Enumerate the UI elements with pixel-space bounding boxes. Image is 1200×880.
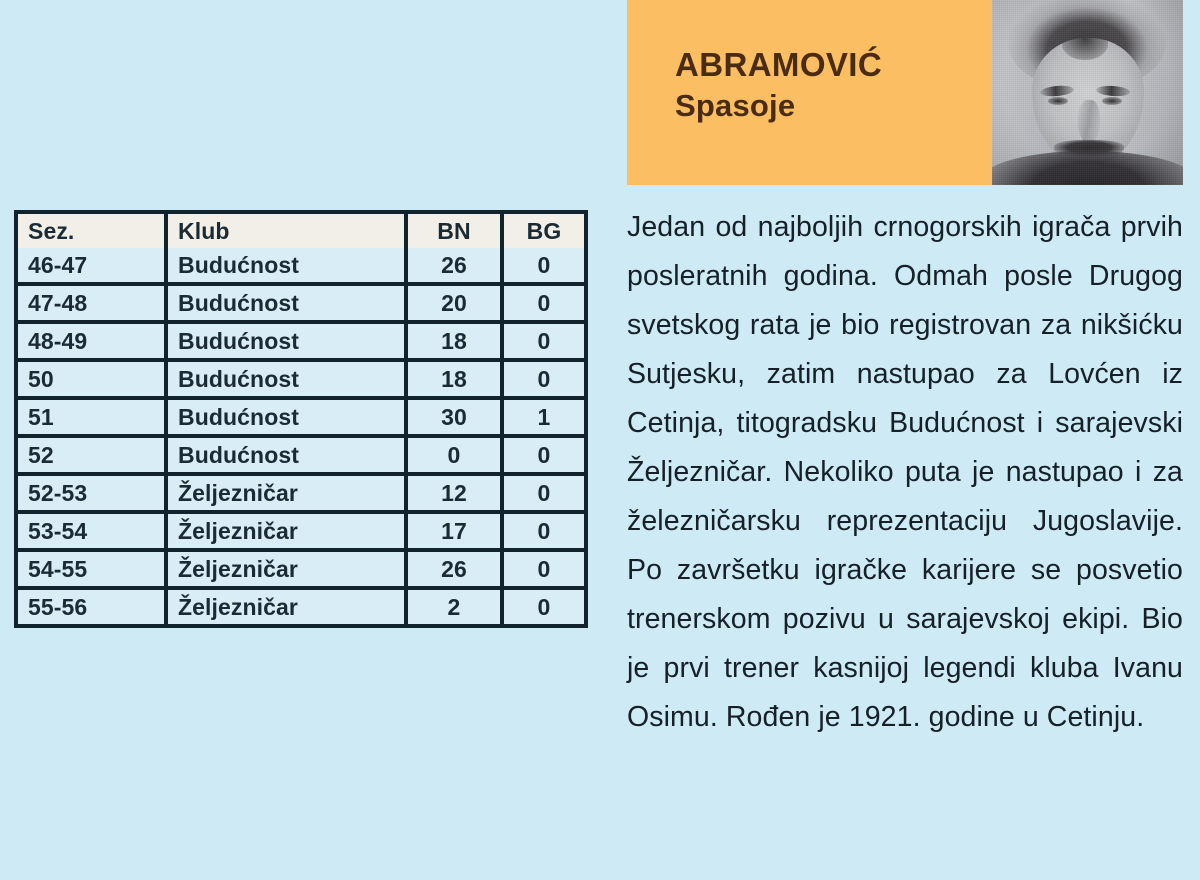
name-plate: ABRAMOVIĆ Spasoje — [627, 0, 992, 185]
stats-table-body: 46-47Budućnost26047-48Budućnost20048-49B… — [18, 248, 584, 624]
table-row: 53-54Željezničar170 — [18, 514, 584, 552]
cell-klub: Budućnost — [168, 286, 408, 324]
table-row: 50Budućnost180 — [18, 362, 584, 400]
column-header-klub: Klub — [168, 214, 408, 248]
table-row: 48-49Budućnost180 — [18, 324, 584, 362]
cell-bg: 0 — [504, 248, 584, 286]
column-header-bg: BG — [504, 214, 584, 248]
profile-column: ABRAMOVIĆ Spasoje Jedan od najboljih crn… — [627, 0, 1183, 771]
cell-bn: 26 — [408, 248, 504, 286]
cell-klub: Željezničar — [168, 514, 408, 552]
cell-bg: 0 — [504, 476, 584, 514]
career-stats-table: Sez. Klub BN BG 46-47Budućnost26047-48Bu… — [14, 210, 588, 628]
cell-bn: 18 — [408, 324, 504, 362]
column-header-sez: Sez. — [18, 214, 168, 248]
cell-sez: 51 — [18, 400, 168, 438]
table-row: 46-47Budućnost260 — [18, 248, 584, 286]
cell-sez: 50 — [18, 362, 168, 400]
biography-text: Jedan od najboljih crnogorskih igrača pr… — [627, 203, 1183, 742]
stats-table-head: Sez. Klub BN BG — [18, 214, 584, 248]
cell-bn: 0 — [408, 438, 504, 476]
cell-klub: Željezničar — [168, 590, 408, 624]
table-row: 55-56Željezničar20 — [18, 590, 584, 624]
table-row: 52Budućnost00 — [18, 438, 584, 476]
cell-bn: 20 — [408, 286, 504, 324]
cell-sez: 48-49 — [18, 324, 168, 362]
cell-bn: 30 — [408, 400, 504, 438]
name-header: ABRAMOVIĆ Spasoje — [627, 0, 1183, 185]
career-stats-panel: Sez. Klub BN BG 46-47Budućnost26047-48Bu… — [14, 210, 584, 628]
cell-sez: 54-55 — [18, 552, 168, 590]
cell-bg: 0 — [504, 286, 584, 324]
cell-bg: 0 — [504, 590, 584, 624]
cell-sez: 46-47 — [18, 248, 168, 286]
table-row: 54-55Željezničar260 — [18, 552, 584, 590]
photo-vignette — [992, 0, 1183, 185]
cell-klub: Budućnost — [168, 400, 408, 438]
cell-bn: 2 — [408, 590, 504, 624]
cell-klub: Budućnost — [168, 248, 408, 286]
stats-header-row: Sez. Klub BN BG — [18, 214, 584, 248]
cell-bn: 18 — [408, 362, 504, 400]
cell-bn: 17 — [408, 514, 504, 552]
cell-bg: 0 — [504, 362, 584, 400]
player-firstname: Spasoje — [675, 86, 992, 126]
cell-klub: Budućnost — [168, 362, 408, 400]
cell-bn: 26 — [408, 552, 504, 590]
table-row: 47-48Budućnost200 — [18, 286, 584, 324]
cell-klub: Budućnost — [168, 438, 408, 476]
cell-klub: Željezničar — [168, 552, 408, 590]
cell-sez: 47-48 — [18, 286, 168, 324]
cell-sez: 52-53 — [18, 476, 168, 514]
cell-bg: 0 — [504, 514, 584, 552]
table-row: 52-53Željezničar120 — [18, 476, 584, 514]
cell-sez: 53-54 — [18, 514, 168, 552]
cell-bn: 12 — [408, 476, 504, 514]
column-header-bn: BN — [408, 214, 504, 248]
portrait-photo — [992, 0, 1183, 185]
cell-klub: Željezničar — [168, 476, 408, 514]
cell-sez: 55-56 — [18, 590, 168, 624]
cell-bg: 0 — [504, 438, 584, 476]
cell-bg: 0 — [504, 324, 584, 362]
cell-sez: 52 — [18, 438, 168, 476]
cell-bg: 1 — [504, 400, 584, 438]
table-row: 51Budućnost301 — [18, 400, 584, 438]
cell-klub: Budućnost — [168, 324, 408, 362]
player-surname: ABRAMOVIĆ — [675, 44, 992, 86]
cell-bg: 0 — [504, 552, 584, 590]
